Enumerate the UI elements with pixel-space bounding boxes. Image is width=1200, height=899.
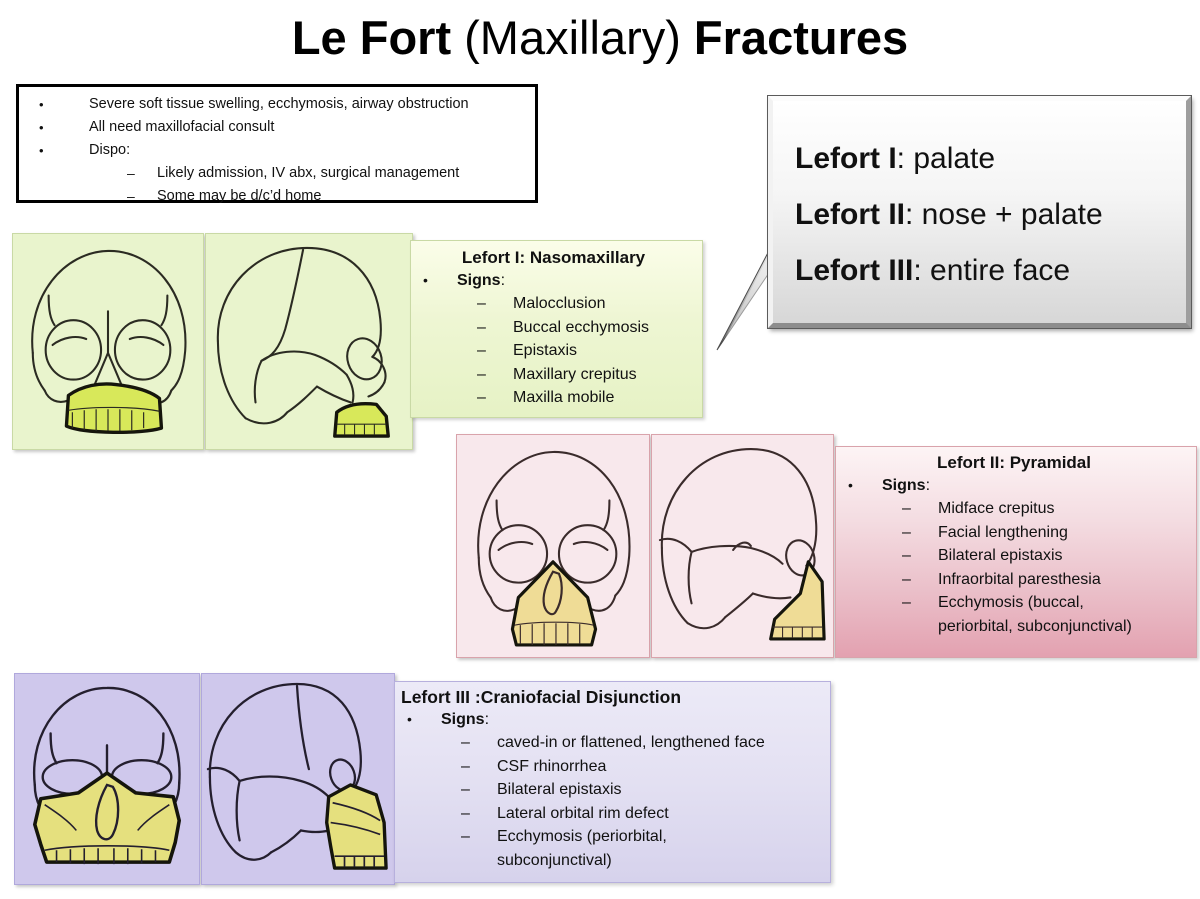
summary-callout: Lefort I: palate Lefort II: nose + palat…: [768, 96, 1191, 328]
lefort1-signs-label: Signs:: [411, 269, 696, 292]
lefort1-title: Lefort I: Nasomaxillary: [411, 247, 696, 269]
lefort1-frontal-skull-image: [12, 233, 204, 450]
list-item: Dispo:: [19, 139, 535, 162]
title-part-maxillary: (Maxillary): [464, 11, 681, 64]
lefort3-frontal-skull-image: [14, 673, 200, 885]
skull-lateral-icon: [652, 435, 833, 657]
signs-text: Signs: [882, 477, 926, 494]
list-item-continuation: periorbital, subconjunctival): [836, 615, 1192, 639]
general-notes-list: Severe soft tissue swelling, ecchymosis,…: [19, 87, 535, 208]
list-item: Bilateral epistaxis: [836, 544, 1192, 568]
signs-colon: :: [926, 477, 930, 494]
list-item: Infraorbital paresthesia: [836, 568, 1192, 592]
page-title: Le Fort (Maxillary) Fractures: [0, 8, 1200, 68]
list-item: Ecchymosis (buccal,: [836, 591, 1192, 615]
list-item: Severe soft tissue swelling, ecchymosis,…: [19, 93, 535, 116]
list-item-continuation: subconjunctival): [395, 849, 826, 873]
list-item: Buccal ecchymosis: [411, 316, 696, 340]
list-item: Epistaxis: [411, 339, 696, 363]
lefort2-frontal-skull-image: [456, 434, 650, 658]
signs-text: Signs: [441, 711, 485, 728]
lefort2-text-panel: Lefort II: Pyramidal Signs: Midface crep…: [835, 446, 1197, 658]
list-item: Midface crepitus: [836, 497, 1192, 521]
signs-colon: :: [501, 272, 505, 289]
title-part-lefort: Le Fort: [292, 11, 464, 64]
callout-desc-lefort-2: : nose + palate: [905, 198, 1103, 231]
skull-frontal-icon: [13, 234, 203, 449]
list-item: Facial lengthening: [836, 521, 1192, 545]
callout-line-lefort-2: Lefort II: nose + palate: [795, 187, 1172, 243]
list-item: All need maxillofacial consult: [19, 116, 535, 139]
callout-desc-lefort-3: : entire face: [913, 254, 1070, 287]
callout-label-lefort-3: Lefort III: [795, 254, 913, 287]
callout-lines: Lefort I: palate Lefort II: nose + palat…: [795, 131, 1172, 299]
lefort2-lateral-skull-image: [651, 434, 834, 658]
callout-label-lefort-2: Lefort II: [795, 198, 905, 231]
lefort3-lateral-skull-image: [201, 673, 395, 885]
callout-line-lefort-3: Lefort III: entire face: [795, 243, 1172, 299]
list-item: Likely admission, IV abx, surgical manag…: [19, 162, 535, 185]
lefort2-signs-label: Signs:: [836, 474, 1192, 497]
callout-desc-lefort-1: : palate: [897, 142, 995, 175]
callout-line-lefort-1: Lefort I: palate: [795, 131, 1172, 187]
list-item: Some may be d/c’d home: [19, 185, 535, 208]
skull-frontal-icon: [15, 674, 199, 884]
lefort3-text-panel: Lefort III :Craniofacial Disjunction Sig…: [394, 681, 831, 883]
list-item: Malocclusion: [411, 292, 696, 316]
signs-text: Signs: [457, 272, 501, 289]
list-item: Lateral orbital rim defect: [395, 802, 826, 826]
list-item: Maxilla mobile: [411, 386, 696, 410]
lefort1-lateral-skull-image: [205, 233, 413, 450]
lefort1-text-panel: Lefort I: Nasomaxillary Signs: Malocclus…: [410, 240, 703, 418]
callout-box: Lefort I: palate Lefort II: nose + palat…: [768, 96, 1191, 328]
lefort3-signs-list: caved-in or flattened, lengthened face C…: [395, 731, 826, 872]
lefort3-title: Lefort III :Craniofacial Disjunction: [395, 686, 826, 708]
skull-lateral-icon: [206, 234, 412, 449]
lefort2-signs-list: Midface crepitus Facial lengthening Bila…: [836, 497, 1192, 638]
title-part-fractures: Fractures: [681, 11, 908, 64]
list-item: Maxillary crepitus: [411, 363, 696, 387]
list-item: CSF rhinorrhea: [395, 755, 826, 779]
callout-label-lefort-1: Lefort I: [795, 142, 897, 175]
signs-colon: :: [485, 711, 489, 728]
skull-lateral-icon: [202, 674, 394, 884]
lefort3-signs-label: Signs:: [395, 708, 826, 731]
list-item: Bilateral epistaxis: [395, 778, 826, 802]
lefort2-title: Lefort II: Pyramidal: [836, 452, 1192, 474]
lefort1-signs-list: Malocclusion Buccal ecchymosis Epistaxis…: [411, 292, 696, 410]
skull-frontal-icon: [457, 435, 649, 657]
list-item: Ecchymosis (periorbital,: [395, 825, 826, 849]
list-item: caved-in or flattened, lengthened face: [395, 731, 826, 755]
general-notes-box: Severe soft tissue swelling, ecchymosis,…: [16, 84, 538, 203]
